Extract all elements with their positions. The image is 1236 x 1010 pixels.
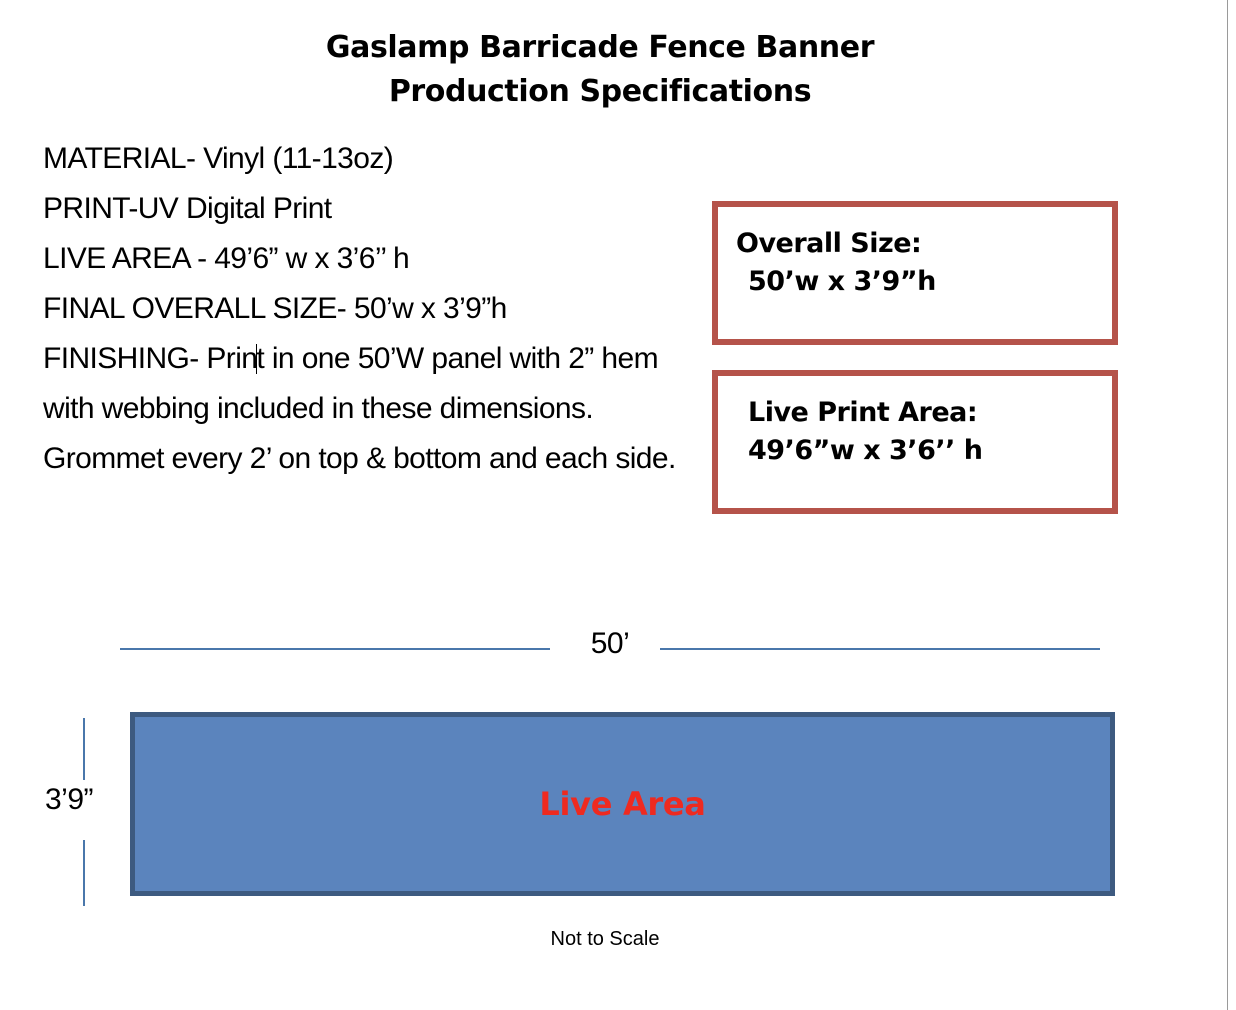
callout-box-live-print-area[interactable]: Live Print Area: 49’6”w x 3’6’’ h — [712, 370, 1118, 514]
slide-edge-rule — [1227, 0, 1228, 1010]
spec-line-grommet: Grommet every 2’ on top & bottom and eac… — [43, 434, 703, 484]
callout-live-content: Live Print Area: 49’6”w x 3’6’’ h — [718, 376, 1112, 471]
banner-rectangle[interactable]: Live Area — [130, 712, 1115, 896]
spec-line-live-area: LIVE AREA - 49’6” w x 3’6’’ h — [43, 234, 703, 284]
width-dimension-line-left — [120, 648, 550, 650]
width-dimension-line-right — [660, 648, 1100, 650]
spec-line-material: MATERIAL- Vinyl (11-13oz) — [43, 134, 703, 184]
callout-box-overall-size[interactable]: Overall Size: 50’w x 3’9”h — [712, 201, 1118, 345]
banner-live-area-label: Live Area — [539, 785, 705, 823]
page-title: Gaslamp Barricade Fence Banner Productio… — [0, 26, 1200, 113]
callout-live-heading: Live Print Area: — [736, 394, 1112, 432]
callout-live-value: 49’6”w x 3’6’’ h — [736, 432, 1112, 470]
height-dimension-label: 3’9” — [45, 783, 93, 817]
specification-text-block[interactable]: MATERIAL- Vinyl (11-13oz) PRINT-UV Digit… — [43, 134, 703, 484]
callout-overall-content: Overall Size: 50’w x 3’9”h — [718, 207, 1112, 302]
height-dimension-line-top — [83, 718, 85, 780]
callout-overall-heading: Overall Size: — [736, 225, 1112, 263]
callout-overall-value: 50’w x 3’9”h — [736, 263, 1112, 301]
title-line-2: Production Specifications — [0, 70, 1200, 114]
spec-line-print: PRINT-UV Digital Print — [43, 184, 703, 234]
spec-line-final-overall-size: FINAL OVERALL SIZE- 50’w x 3’9”h — [43, 284, 703, 334]
not-to-scale-caption: Not to Scale — [0, 928, 1210, 951]
spec-finishing-text-before-caret: FINISHING- Prin — [43, 342, 257, 375]
spec-line-finishing: FINISHING- Print in one 50’W panel with … — [43, 334, 703, 434]
width-dimension-label: 50’ — [570, 627, 650, 661]
title-line-1: Gaslamp Barricade Fence Banner — [0, 26, 1200, 70]
height-dimension-line-bottom — [83, 840, 85, 906]
